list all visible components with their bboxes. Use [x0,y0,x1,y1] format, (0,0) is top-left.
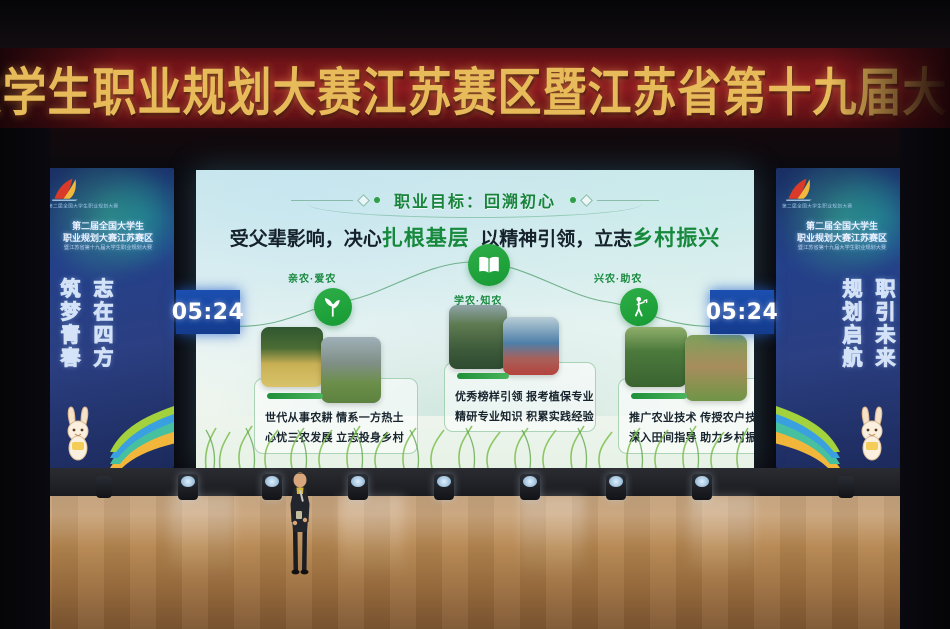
stage-light-3 [348,474,368,500]
stage-light-side-right [838,476,854,498]
node-label-3: 兴农·助农 [594,270,642,285]
left-side-led-panel: 第二届全国大学生职业规划大赛 第二届全国大学生 职业规划大赛江苏赛区 暨江苏省第… [42,168,174,468]
stage-floor [0,496,950,629]
left-panel-ribbon-graphic [110,378,174,468]
stage-light-1 [178,474,198,500]
sail-logo-icon [50,176,80,202]
card-2-photo-a [449,305,507,369]
title-rule-right [597,200,659,201]
card-3-photo-b [685,335,747,401]
stage-light-side-left [96,476,112,498]
presenter-speaker [283,470,317,588]
title-dot-right-icon [570,197,576,203]
slide-grass-strip [196,416,754,468]
node-label-1: 亲农·爱农 [288,270,336,285]
card-3-accent-bar [631,393,687,399]
right-panel-title-line1: 第二届全国大学生 [776,220,908,232]
main-led-screen: 职业目标：回溯初心 受父辈影响，决心扎根基层 以精神引领，立志乡村振兴 亲农·爱… [196,170,754,468]
banner-shadow-area [0,128,950,168]
floor-reflection-2 [340,496,404,616]
right-panel-title-line2: 职业规划大赛江苏赛区 [776,232,908,244]
title-dot-left-icon [374,197,380,203]
stage-light-5 [520,474,540,500]
card-1-accent-bar [267,393,323,399]
subtitle-part2: 以精神引领，立志 [480,229,632,250]
card-1-photo-a [261,327,323,387]
left-panel-title-line2: 职业规划大赛江苏赛区 [42,232,174,244]
right-panel-title: 第二届全国大学生 职业规划大赛江苏赛区 暨江苏省第十九届大学生职业规划大赛 [776,220,908,252]
right-panel-ribbon-graphic [776,378,840,468]
right-vertical-slogan-right: 职引未来 [871,278,894,370]
right-logo-caption: 第二届全国大学生职业规划大赛 [782,202,852,209]
card-3-photo-a [625,327,687,387]
left-vertical-slogan-right: 志在四方 [89,278,112,370]
title-rule-left [291,200,353,201]
auditorium-stage-photo: 第二届全国大学生职业规划大赛江苏赛区暨江苏省第十九届大学生职业规划 第二届全国大… [0,0,950,629]
floor-reflection-3 [520,496,584,616]
subtitle-highlight2: 乡村振兴 [632,227,720,250]
card-1-photo-b [321,337,381,403]
ceiling-dark-area [0,0,950,48]
open-book-icon [468,244,510,286]
left-logo-caption: 第二届全国大学生职业规划大赛 [48,202,118,209]
left-panel-title-line1: 第二届全国大学生 [42,220,174,232]
sail-logo-icon-right [784,176,814,202]
card-2-photo-b [503,317,559,375]
left-panel-title: 第二届全国大学生 职业规划大赛江苏赛区 暨江苏省第十九届大学生职业规划大赛 [42,220,174,252]
rabbit-mascot-right [850,404,894,464]
farmer-hoe-icon [620,288,658,326]
stage-light-2 [262,474,282,500]
stage-light-6 [606,474,626,500]
stage-light-7 [692,474,712,500]
left-panel-title-line3: 暨江苏省第十九届大学生职业规划大赛 [42,245,174,252]
floor-reflection-1 [170,496,234,616]
event-banner-text: 第二届全国大学生职业规划大赛江苏赛区暨江苏省第十九届大学生职业规划 [0,50,950,126]
curtain-left [0,128,50,629]
rabbit-mascot-left [56,404,100,464]
right-side-led-panel: 第二届全国大学生职业规划大赛 第二届全国大学生 职业规划大赛江苏赛区 暨江苏省第… [776,168,908,468]
right-panel-title-line3: 暨江苏省第十九届大学生职业规划大赛 [776,245,908,252]
right-panel-vertical-slogans: 职引未来 规划启航 [838,278,894,370]
stage-light-4 [434,474,454,500]
curtain-right [900,128,950,629]
countdown-timer-left: 05:24 [176,290,240,334]
card-2-line1: 优秀榜样引领 报考植保专业 [455,388,587,404]
floor-reflection-4 [690,496,754,616]
floor-reflection-sheen [0,496,950,629]
left-vertical-slogan-left: 筑梦青春 [56,278,79,370]
right-vertical-slogan-left: 规划启航 [838,278,861,370]
countdown-timer-right: 05:24 [710,290,774,334]
card-2-accent-bar [457,373,509,379]
sprout-icon [314,288,352,326]
left-panel-vertical-slogans: 志在四方 筑梦青春 [56,278,112,370]
event-banner: 第二届全国大学生职业规划大赛江苏赛区暨江苏省第十九届大学生职业规划 [0,48,950,128]
subtitle-part1: 受父辈影响，决心 [230,229,382,250]
subtitle-highlight1: 扎根基层 [382,227,470,250]
slide-subtitle: 受父辈影响，决心扎根基层 以精神引领，立志乡村振兴 [196,222,754,252]
